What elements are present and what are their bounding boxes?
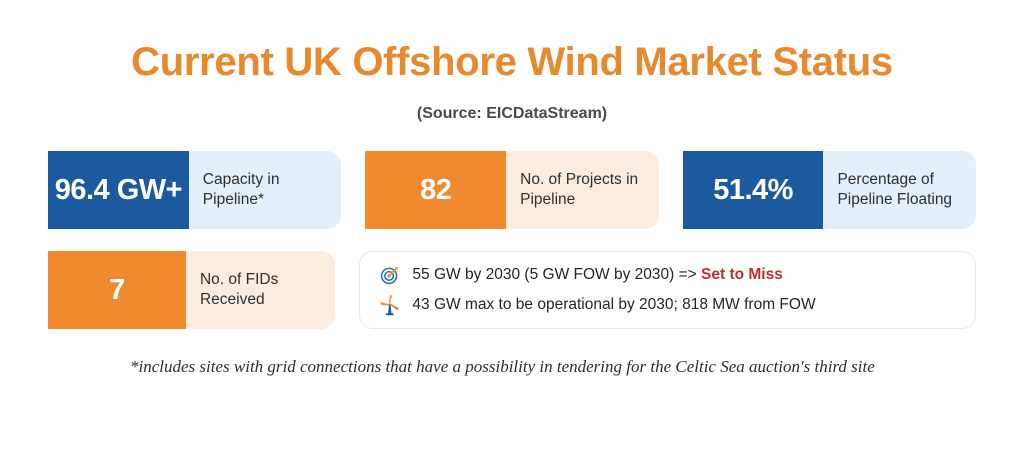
wind-turbine-icon [378, 293, 402, 317]
stat-label-fids-received: No. of FIDs Received [186, 251, 335, 329]
stat-card-projects-in-pipeline: 82 No. of Projects in Pipeline [365, 151, 658, 229]
stat-card-capacity-in-pipeline: 96.4 GW+ Capacity in Pipeline* [48, 151, 341, 229]
note-row-target: 55 GW by 2030 (5 GW FOW by 2030) => Set … [378, 263, 959, 287]
stat-value-percentage-floating: 51.4% [683, 151, 824, 229]
note-row-operational: 43 GW max to be operational by 2030; 818… [378, 293, 959, 317]
notes-panel: 55 GW by 2030 (5 GW FOW by 2030) => Set … [359, 251, 976, 329]
target-dart-icon [378, 263, 402, 287]
stat-label-capacity-in-pipeline: Capacity in Pipeline* [189, 151, 342, 229]
stat-card-fids-received: 7 No. of FIDs Received [48, 251, 335, 329]
source-subtitle: (Source: EICDataStream) [0, 104, 1024, 123]
stats-row-bottom: 7 No. of FIDs Received 55 GW by 2030 (5 … [0, 251, 1024, 329]
stat-value-fids-received: 7 [48, 251, 186, 329]
infographic-root: Current UK Offshore Wind Market Status (… [0, 0, 1024, 466]
stat-value-capacity-in-pipeline: 96.4 GW+ [48, 151, 189, 229]
status-badge-set-to-miss: Set to Miss [701, 266, 783, 283]
stat-value-projects-in-pipeline: 82 [365, 151, 506, 229]
stat-label-percentage-floating: Percentage of Pipeline Floating [823, 151, 976, 229]
page-title: Current UK Offshore Wind Market Status [0, 40, 1024, 84]
footnote: *includes sites with grid connections th… [0, 355, 1024, 378]
note-text-operational: 43 GW max to be operational by 2030; 818… [412, 296, 815, 315]
note-text-target: 55 GW by 2030 (5 GW FOW by 2030) => Set … [412, 266, 782, 285]
stat-label-projects-in-pipeline: No. of Projects in Pipeline [506, 151, 659, 229]
stat-card-percentage-floating: 51.4% Percentage of Pipeline Floating [683, 151, 976, 229]
header: Current UK Offshore Wind Market Status (… [0, 0, 1024, 123]
stats-row-top: 96.4 GW+ Capacity in Pipeline* 82 No. of… [0, 151, 1024, 229]
